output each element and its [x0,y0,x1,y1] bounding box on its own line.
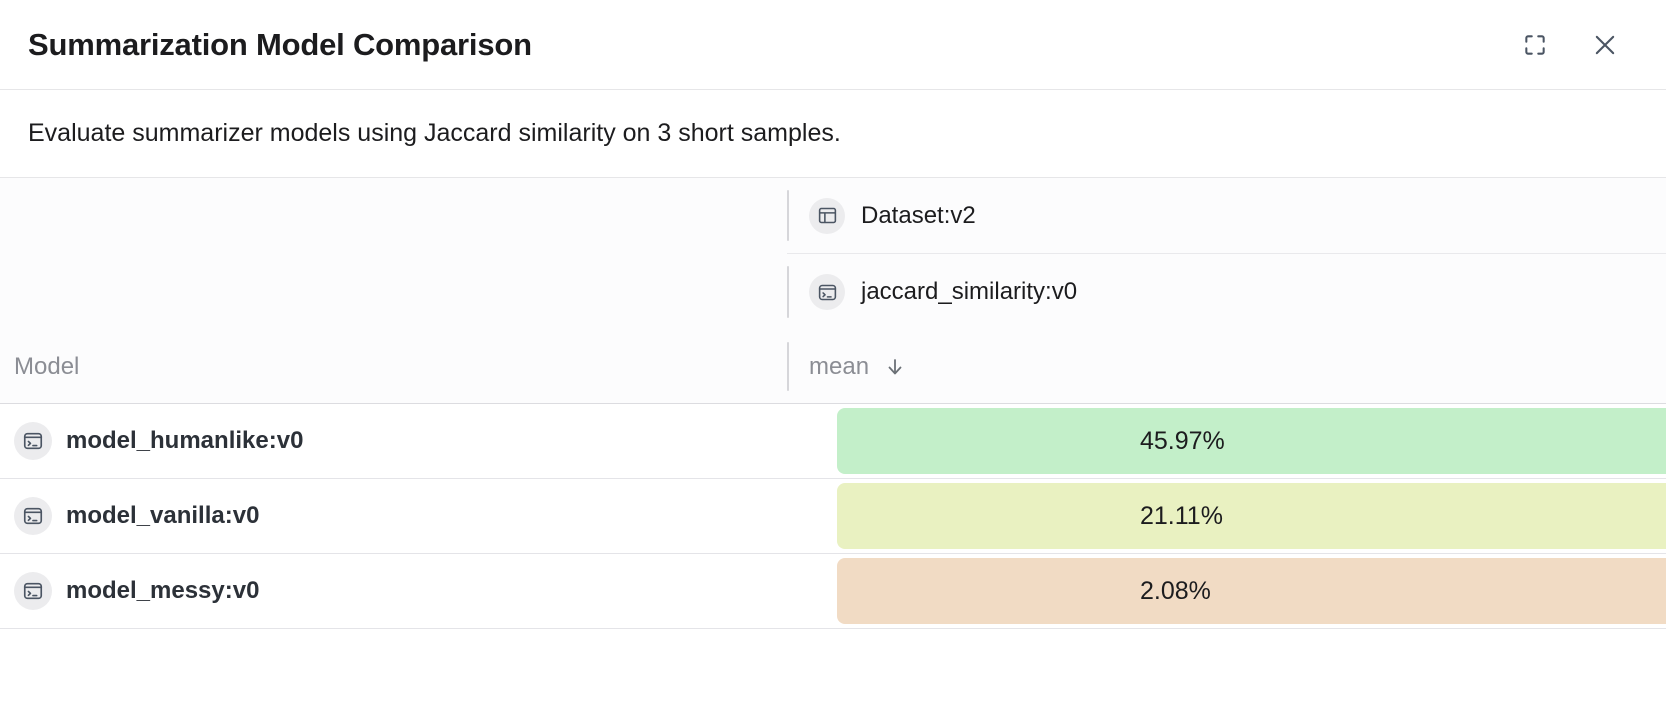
evaluator-terminal-icon [809,274,845,310]
fullscreen-expand-icon[interactable] [1518,28,1552,62]
row-model-cell: model_vanilla:v0 [0,479,787,553]
comparison-table: Dataset:v2 [0,178,1666,675]
value-bar [837,558,1666,624]
model-column-header[interactable]: Model [0,330,787,403]
dataset-header-left-spacer [0,178,787,254]
evaluator-header-label: jaccard_similarity:v0 [861,278,1077,306]
model-terminal-icon [14,422,52,460]
evaluator-header-row: jaccard_similarity:v0 [0,254,1666,330]
panel-description-bar: Evaluate summarizer models using Jaccard… [0,90,1666,178]
page-title: Summarization Model Comparison [28,27,1518,63]
panel-titlebar: Summarization Model Comparison [0,0,1666,90]
row-model-cell: model_humanlike:v0 [0,404,787,478]
model-comparison-panel: Summarization Model Comparison Evaluate … [0,0,1666,712]
mean-value: 2.08% [1140,577,1211,606]
column-divider [787,342,789,391]
model-name: model_humanlike:v0 [66,427,303,455]
mean-value: 45.97% [1140,427,1225,456]
table-header-group: Dataset:v2 [0,178,1666,404]
evaluator-header-right: jaccard_similarity:v0 [787,254,1666,330]
table-bottom-spacer [0,629,1666,675]
row-model-cell: model_messy:v0 [0,554,787,628]
column-divider [787,266,789,318]
titlebar-actions [1518,28,1622,62]
model-name: model_vanilla:v0 [66,502,259,530]
sort-descending-arrow-icon[interactable] [883,355,907,379]
dataset-header-right: Dataset:v2 [787,178,1666,254]
close-icon[interactable] [1588,28,1622,62]
mean-value: 21.11% [1140,502,1223,531]
dataset-header-row: Dataset:v2 [0,178,1666,254]
table-row[interactable]: model_messy:v0 2.08% [0,554,1666,629]
model-column-header-label: Model [14,353,79,381]
dataset-header-label: Dataset:v2 [861,202,976,230]
row-mean-cell: 45.97% [787,404,1666,478]
table-row[interactable]: model_vanilla:v0 21.11% [0,479,1666,554]
row-mean-cell: 2.08% [787,554,1666,628]
evaluator-header-left-spacer [0,254,787,330]
value-bar [837,483,1666,549]
model-name: model_messy:v0 [66,577,259,605]
table-row[interactable]: model_humanlike:v0 45.97% [0,404,1666,479]
column-divider [787,190,789,241]
row-mean-cell: 21.11% [787,479,1666,553]
model-terminal-icon [14,497,52,535]
panel-description: Evaluate summarizer models using Jaccard… [28,119,841,148]
dataset-table-icon [809,198,845,234]
model-terminal-icon [14,572,52,610]
column-header-row: Model mean [0,330,1666,404]
mean-column-header[interactable]: mean [787,330,1666,403]
value-bar [837,408,1666,474]
mean-column-header-label: mean [809,353,869,381]
